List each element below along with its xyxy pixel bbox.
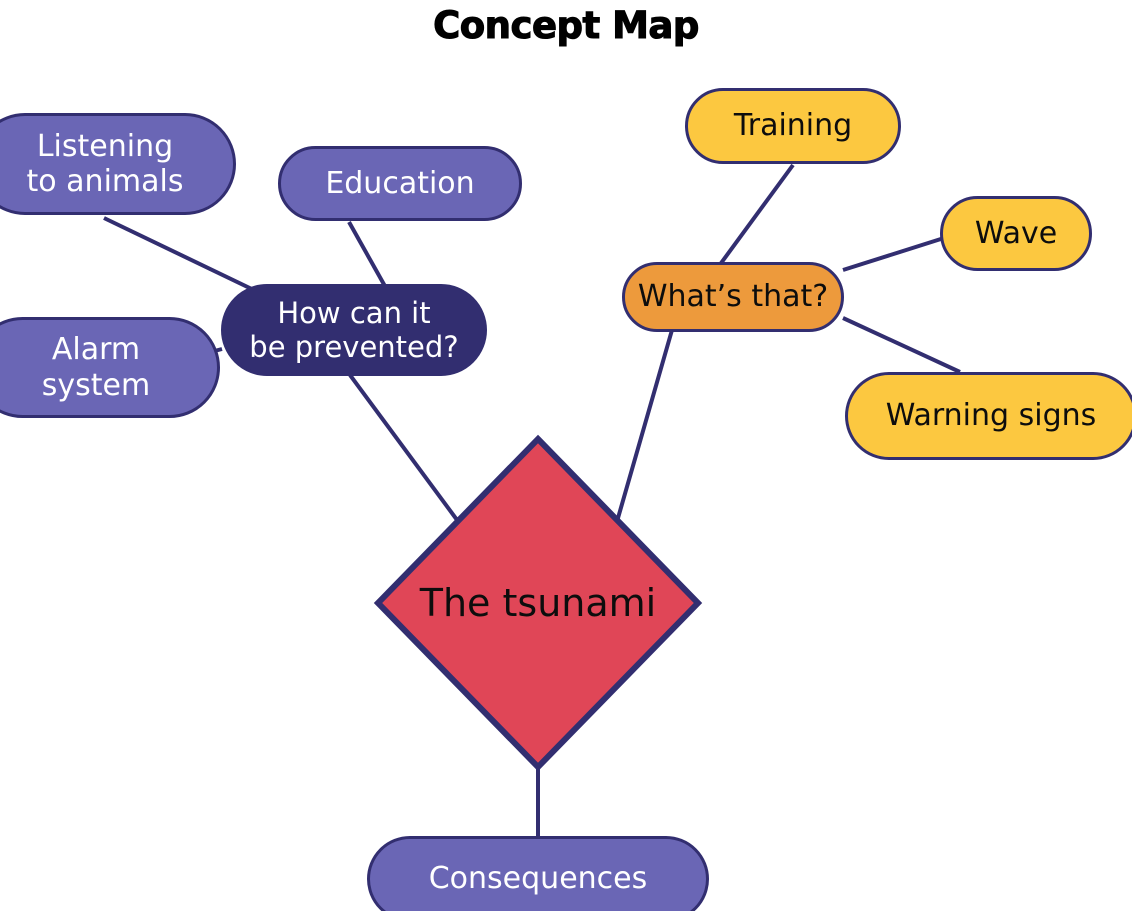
node-consequences[interactable]: Consequences: [367, 836, 709, 911]
node-label: What’s that?: [638, 279, 828, 314]
node-training[interactable]: Training: [685, 88, 901, 164]
concept-map-canvas: Concept Map Listening to animals Educati…: [0, 0, 1132, 911]
diamond-shape: [372, 433, 704, 773]
node-wave[interactable]: Wave: [940, 196, 1092, 271]
edge-whatsthat-wave: [843, 238, 944, 270]
edge-whatsthat-warning: [843, 318, 960, 372]
node-alarm-system[interactable]: Alarm system: [0, 317, 220, 418]
edge-prevented-listening: [104, 218, 258, 292]
edge-whatsthat-tsunami: [616, 330, 672, 525]
node-warning-signs[interactable]: Warning signs: [845, 372, 1132, 460]
node-label: Education: [325, 166, 474, 201]
page-title: Concept Map: [0, 4, 1132, 47]
node-label: The tsunami: [372, 433, 704, 773]
node-label: Consequences: [429, 861, 648, 896]
node-label: Wave: [975, 216, 1057, 251]
node-label: Alarm system: [42, 332, 150, 403]
node-label: Training: [734, 108, 852, 143]
edge-prevented-tsunami: [350, 375, 460, 524]
node-listening-to-animals[interactable]: Listening to animals: [0, 113, 236, 215]
node-whats-that[interactable]: What’s that?: [622, 262, 844, 332]
node-label: Warning signs: [886, 398, 1097, 433]
node-label: Listening to animals: [27, 129, 184, 200]
node-how-can-it-be-prevented[interactable]: How can it be prevented?: [221, 284, 487, 376]
edge-prevented-education: [349, 222, 386, 288]
node-the-tsunami[interactable]: The tsunami: [372, 433, 704, 773]
node-education[interactable]: Education: [278, 146, 522, 221]
node-label: How can it be prevented?: [249, 296, 458, 364]
